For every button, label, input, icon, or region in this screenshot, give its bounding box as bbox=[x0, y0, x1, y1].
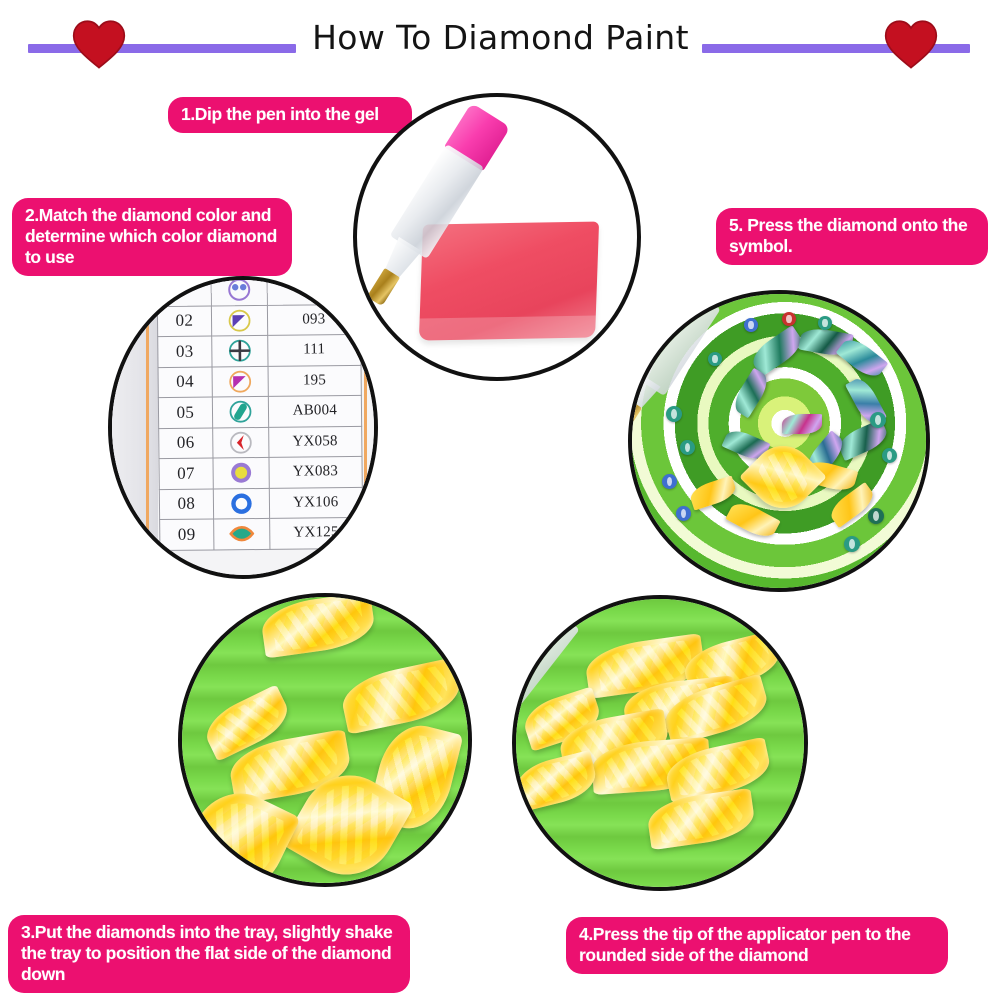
color-symbol-table: 02002 09303 11104 19505 AB00406 YX05807 … bbox=[157, 276, 364, 551]
open-ring-symbol bbox=[229, 491, 254, 516]
chart-cell-symbol bbox=[213, 457, 269, 488]
leaf-marquise-symbol bbox=[229, 521, 254, 546]
chart-cell-number: 02 bbox=[157, 306, 211, 337]
mandala-round-gem bbox=[782, 312, 796, 326]
mandala-round-gem bbox=[676, 506, 691, 521]
chart-cell-number: 07 bbox=[159, 458, 213, 489]
chart-cell-number bbox=[157, 276, 211, 306]
chart-cell-code: 195 bbox=[268, 365, 362, 396]
chart-cell-number: 04 bbox=[158, 367, 212, 398]
table-row: 020 bbox=[157, 276, 360, 306]
chart-cell-symbol bbox=[211, 305, 267, 336]
mandala-round-gem bbox=[708, 352, 722, 366]
step-5-label: 5. Press the diamond onto the symbol. bbox=[716, 208, 988, 265]
mandala-round-gem bbox=[844, 536, 860, 552]
chart-cell-symbol bbox=[211, 276, 267, 306]
mandala-round-gem bbox=[882, 448, 897, 463]
step-1-photo-circle bbox=[353, 93, 641, 381]
filled-triangle-symbol bbox=[227, 308, 252, 333]
canvas-edge bbox=[112, 280, 158, 575]
chart-cell-code: 020 bbox=[267, 276, 361, 305]
mandala-gem bbox=[782, 414, 822, 434]
yellow-gem bbox=[752, 446, 814, 508]
chart-cell-symbol bbox=[212, 366, 268, 397]
mandala-round-gem bbox=[680, 440, 695, 455]
orange-guide-line bbox=[364, 280, 367, 575]
step-2-label: 2.Match the diamond color and determine … bbox=[12, 198, 292, 276]
chart-cell-symbol bbox=[211, 335, 267, 366]
table-row: 05 AB004 bbox=[158, 395, 361, 428]
step-3-label: 3.Put the diamonds into the tray, slight… bbox=[8, 915, 410, 993]
mandala-round-gem bbox=[666, 406, 682, 422]
filled-dot-ring-symbol bbox=[228, 460, 253, 485]
chart-cell-code: YX058 bbox=[268, 426, 362, 457]
chart-cell-code: 093 bbox=[267, 304, 361, 335]
table-row: 06 YX058 bbox=[159, 426, 362, 459]
table-row: 02 093 bbox=[157, 304, 360, 337]
mandala-round-gem bbox=[744, 318, 758, 332]
chart-cell-code: YX125 bbox=[269, 517, 363, 548]
chart-cell-symbol bbox=[212, 427, 268, 458]
red-gel-pad bbox=[419, 221, 599, 340]
step-5-photo-circle bbox=[628, 290, 930, 592]
chart-cell-symbol bbox=[212, 396, 268, 427]
table-row: 03 111 bbox=[158, 334, 361, 367]
chart-cell-code: YX106 bbox=[269, 487, 363, 518]
table-row: 08YX106 bbox=[159, 487, 362, 520]
header-banner: How To Diamond Paint bbox=[0, 0, 1001, 80]
chart-cell-code: YX083 bbox=[269, 456, 363, 487]
chart-cell-symbol bbox=[213, 488, 269, 519]
left-chevron-symbol bbox=[228, 430, 253, 455]
step-2-photo-circle: 02002 09303 11104 19505 AB00406 YX05807 … bbox=[108, 276, 378, 579]
chart-cell-number: 03 bbox=[158, 336, 212, 367]
filled-triangle-symbol bbox=[227, 369, 252, 394]
mandala-round-gem bbox=[870, 412, 886, 428]
chart-cell-code: 111 bbox=[267, 334, 361, 365]
chart-cell-number: 06 bbox=[159, 427, 213, 458]
orange-guide-line bbox=[146, 280, 149, 575]
chart-cell-number: 05 bbox=[158, 397, 212, 428]
chart-cell-symbol bbox=[213, 518, 269, 549]
mandala-round-gem bbox=[868, 508, 884, 524]
table-row: 04 195 bbox=[158, 365, 361, 398]
step-4-label: 4.Press the tip of the applicator pen to… bbox=[566, 917, 948, 974]
page-title: How To Diamond Paint bbox=[0, 18, 1001, 57]
mandala-round-gem bbox=[662, 474, 677, 489]
mandala-round-gem bbox=[818, 316, 832, 330]
plus-cross-symbol bbox=[227, 338, 252, 363]
chart-cell-number: 09 bbox=[160, 519, 214, 550]
step-4-photo-circle bbox=[512, 595, 808, 891]
step-3-photo-circle bbox=[178, 593, 472, 887]
table-row: 09YX125 bbox=[160, 517, 363, 550]
double-dot-circle-symbol bbox=[226, 277, 251, 302]
chart-cell-number: 08 bbox=[159, 488, 213, 519]
diagonal-capsule-symbol bbox=[228, 399, 253, 424]
infographic-canvas: How To Diamond Paint 1.Dip the pen into … bbox=[0, 0, 1001, 1001]
chart-cell-code: AB004 bbox=[268, 395, 362, 426]
table-row: 07 YX083 bbox=[159, 456, 362, 489]
pen-taper bbox=[512, 685, 515, 730]
